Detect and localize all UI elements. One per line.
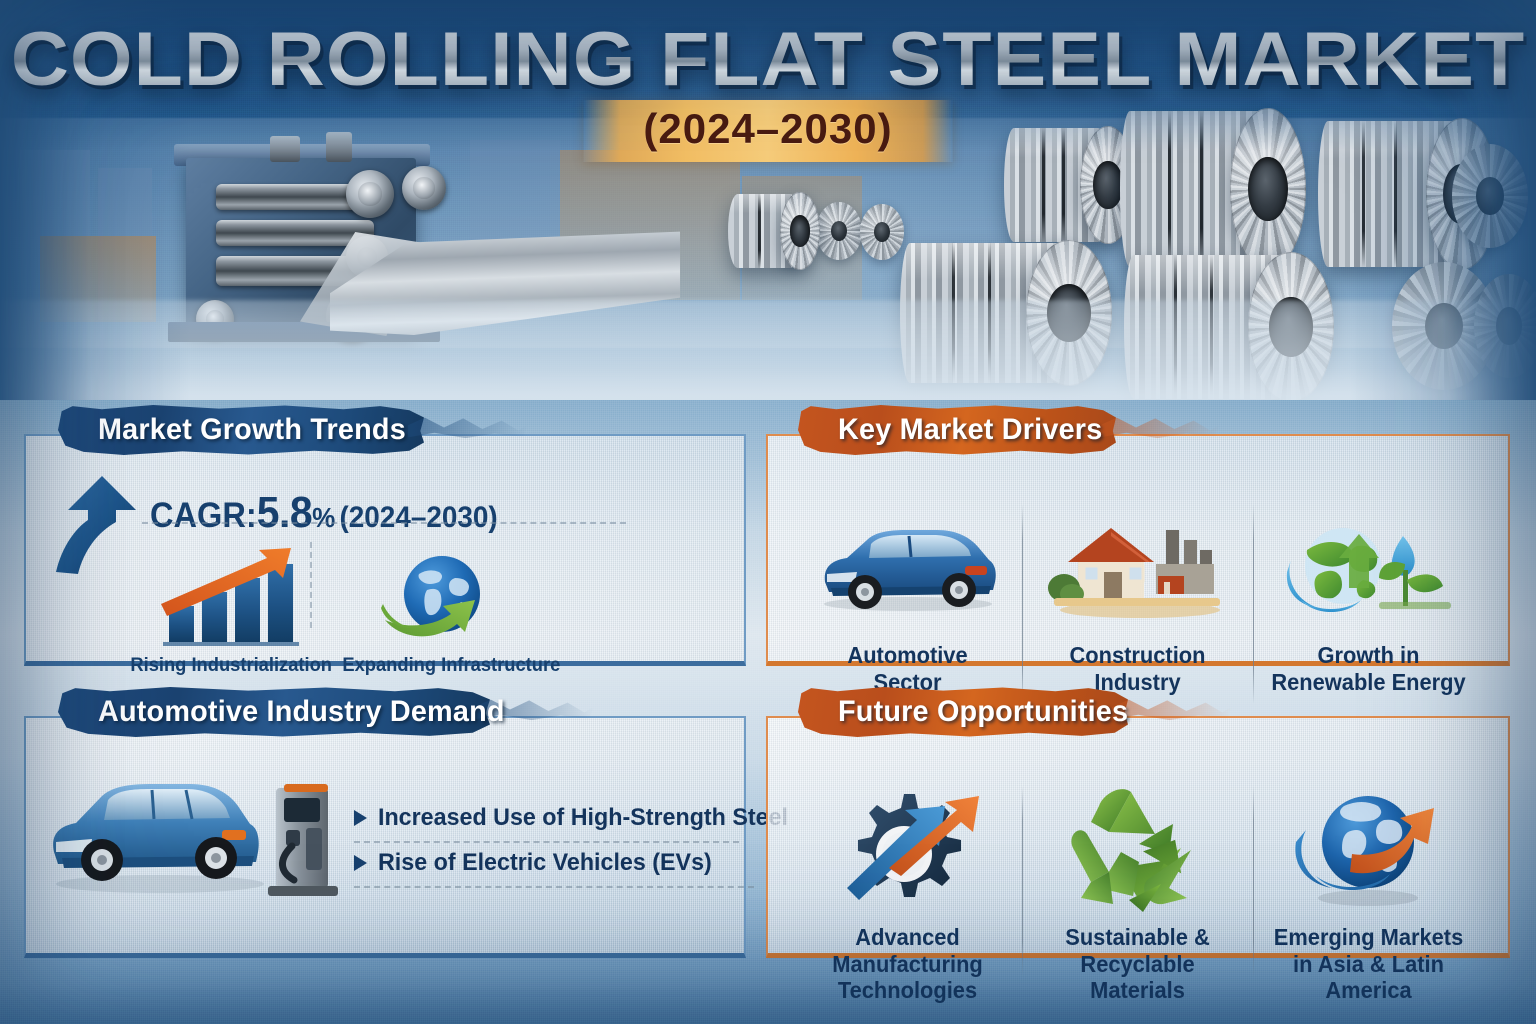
globe-orange-arrow-icon — [1288, 780, 1448, 916]
bar-chart-growth-icon — [155, 544, 305, 648]
divider-vertical — [310, 542, 312, 628]
driver-caption-line1: Construction — [1036, 642, 1240, 669]
bullet-text: Rise of Electric Vehicles (EVs) — [378, 849, 712, 877]
panel-automotive-industry-demand: Automotive Industry Demand — [24, 716, 746, 958]
heading-text: Automotive Industry Demand — [98, 695, 505, 729]
driver-item-construction-industry: Construction Industry — [1024, 490, 1251, 695]
driver-item-renewable-energy: Growth in Renewable Energy — [1255, 490, 1482, 695]
blue-car-and-ev-charger-icon — [40, 768, 350, 908]
heading-text: Market Growth Trends — [98, 413, 406, 447]
bullet-item: Increased Use of High-Strength Steel — [354, 798, 739, 841]
divider-dashed — [142, 522, 626, 524]
driver-caption-line1: Growth in — [1266, 642, 1470, 669]
subtitle-text: (2024–2030) — [643, 105, 892, 152]
driver-item-automotive-sector: Automotive Sector — [794, 490, 1021, 695]
hero-banner: COLD ROLLING FLAT STEEL MARKET (2024–203… — [0, 0, 1536, 400]
cagr-label: CAGR: — [150, 496, 257, 535]
opportunity-item-emerging-markets: Emerging Markets in Asia & Latin America — [1255, 772, 1482, 1004]
cagr-years: (2024–2030) — [339, 501, 497, 534]
bullet-text: Increased Use of High-Strength Steel — [378, 804, 788, 832]
heading-text: Key Market Drivers — [838, 413, 1102, 447]
page-title: COLD ROLLING FLAT STEEL MARKET — [0, 16, 1536, 103]
infographic-canvas: COLD ROLLING FLAT STEEL MARKET (2024–203… — [0, 0, 1536, 1024]
heading-market-growth-trends: Market Growth Trends — [58, 404, 424, 456]
opportunity-item-advanced-manufacturing: Advanced Manufacturing Technologies — [794, 772, 1021, 1004]
panel-future-opportunities: Future Opportunities — [766, 716, 1510, 958]
heading-future-opportunities: Future Opportunities — [798, 686, 1128, 738]
divider-vertical — [1253, 786, 1254, 976]
subtitle-band: (2024–2030) — [583, 100, 952, 162]
heading-text: Future Opportunities — [838, 695, 1128, 729]
opportunity-caption-line1: Advanced Manufacturing — [805, 924, 1009, 977]
green-globe-leaf-icon — [1283, 514, 1453, 618]
driver-caption-line1: Automotive — [805, 642, 1009, 669]
divider-dashed — [354, 886, 754, 888]
panel-market-growth-trends: Market Growth Trends CAGR:5.8% (2024–203… — [24, 434, 746, 666]
steel-coil — [1120, 108, 1306, 270]
heading-key-market-drivers: Key Market Drivers — [798, 404, 1116, 456]
globe-green-arrow-icon — [379, 544, 505, 648]
opportunity-item-sustainable-materials: Sustainable & Recyclable Materials — [1024, 772, 1251, 1004]
opportunity-caption-line1: Sustainable & — [1036, 924, 1240, 951]
bullet-triangle-icon — [354, 810, 367, 826]
opportunity-caption-line1: Emerging Markets — [1266, 924, 1470, 951]
divider-vertical — [1022, 504, 1023, 704]
divider-vertical — [1253, 504, 1254, 704]
bullet-item: Rise of Electric Vehicles (EVs) — [354, 843, 739, 886]
trend-item-rising-industrialization: Rising Industrialization — [124, 544, 336, 677]
steel-coil — [1004, 126, 1136, 244]
recycling-symbol-icon — [1063, 780, 1213, 916]
heading-automotive-industry-demand: Automotive Industry Demand — [58, 686, 490, 738]
cagr-percent-sign: % — [312, 502, 335, 533]
trend-item-expanding-infrastructure: Expanding Infrastructure — [336, 544, 548, 677]
opportunity-caption-line2: Technologies — [805, 977, 1009, 1004]
cagr-value: 5.8 — [257, 488, 312, 537]
trend-caption: Rising Industrialization — [130, 654, 329, 677]
bullet-triangle-icon — [354, 855, 367, 871]
steel-coil — [728, 192, 820, 270]
trend-caption: Expanding Infrastructure — [342, 654, 541, 677]
house-factory-icon — [1048, 514, 1228, 618]
opportunity-caption-line2: in Asia & Latin America — [1266, 951, 1470, 1004]
gear-arrows-icon — [833, 780, 983, 916]
driver-caption-line2: Renewable Energy — [1266, 669, 1470, 696]
opportunity-caption-line2: Recyclable Materials — [1036, 951, 1240, 1004]
blue-sedan-car-icon — [813, 518, 1003, 614]
panel-key-market-drivers: Key Market Drivers — [766, 434, 1510, 666]
divider-vertical — [1022, 786, 1023, 976]
automotive-bullet-list: Increased Use of High-Strength Steel Ris… — [354, 798, 739, 888]
